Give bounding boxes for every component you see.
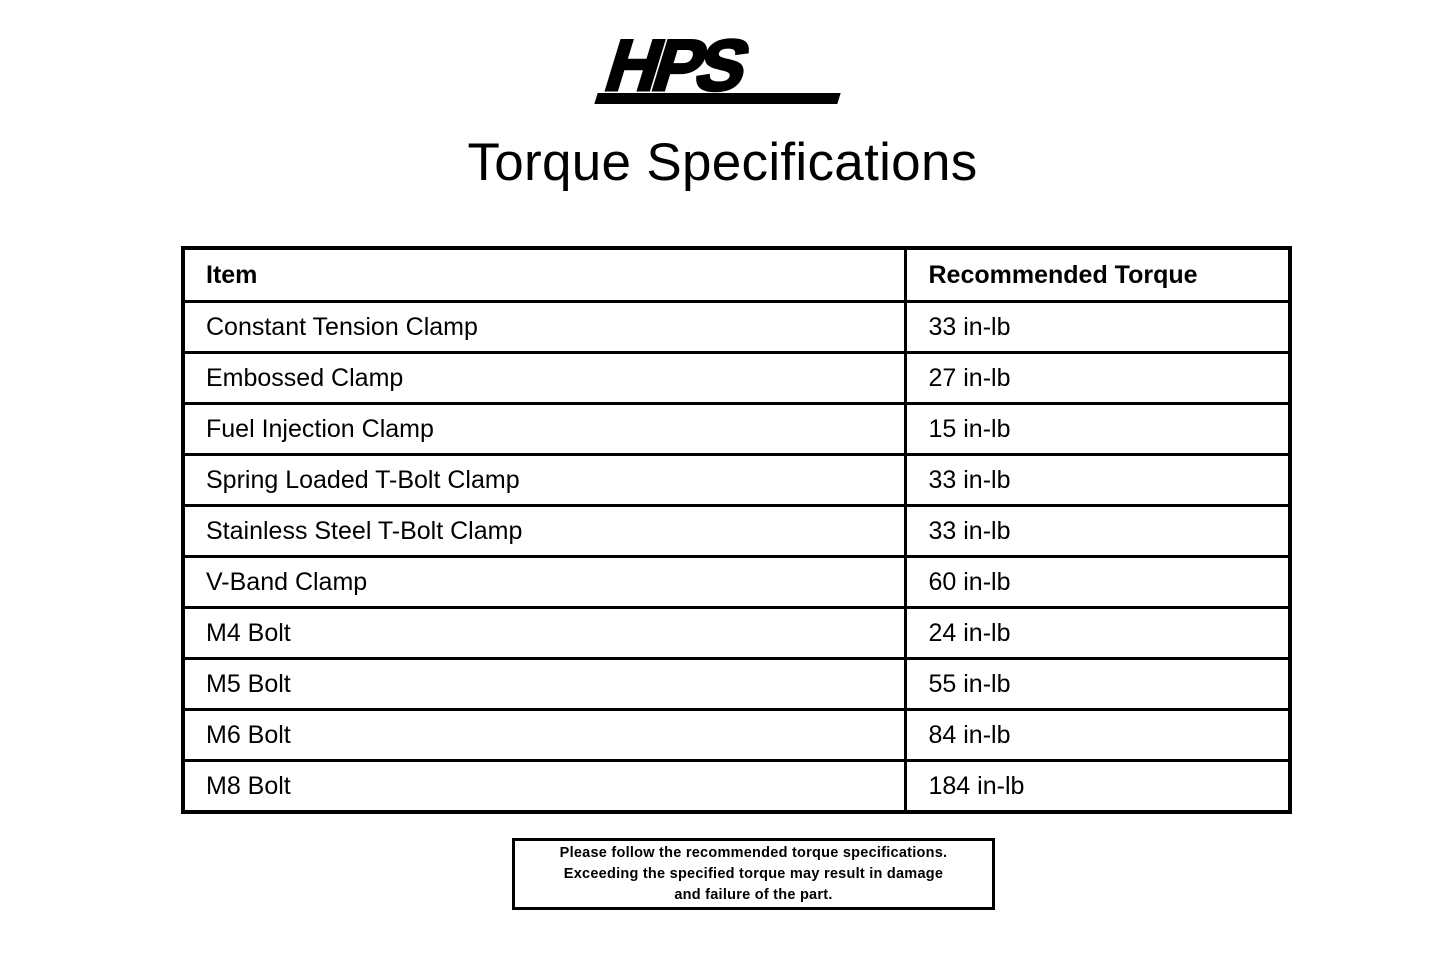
cell-item: M6 Bolt: [183, 710, 905, 761]
cell-item: M5 Bolt: [183, 659, 905, 710]
cell-torque: 33 in-lb: [905, 455, 1290, 506]
table-row: V-Band Clamp60 in-lb: [183, 557, 1290, 608]
table-row: Constant Tension Clamp33 in-lb: [183, 302, 1290, 353]
cell-torque: 33 in-lb: [905, 506, 1290, 557]
torque-table-head: Item Recommended Torque: [183, 248, 1290, 302]
note-line-2: Exceeding the specified torque may resul…: [564, 864, 943, 885]
cell-item: M4 Bolt: [183, 608, 905, 659]
cell-item: Constant Tension Clamp: [183, 302, 905, 353]
note-line-1: Please follow the recommended torque spe…: [560, 843, 948, 864]
table-row: Fuel Injection Clamp15 in-lb: [183, 404, 1290, 455]
hps-logo-underline-bar: [594, 93, 840, 104]
torque-table: Item Recommended Torque Constant Tension…: [181, 246, 1292, 814]
cell-torque: 24 in-lb: [905, 608, 1290, 659]
column-header-torque: Recommended Torque: [905, 248, 1290, 302]
table-row: M8 Bolt184 in-lb: [183, 761, 1290, 813]
warning-note-box: Please follow the recommended torque spe…: [512, 838, 995, 910]
column-header-item: Item: [183, 248, 905, 302]
cell-torque: 84 in-lb: [905, 710, 1290, 761]
cell-torque: 27 in-lb: [905, 353, 1290, 404]
cell-torque: 15 in-lb: [905, 404, 1290, 455]
cell-torque: 60 in-lb: [905, 557, 1290, 608]
cell-item: Spring Loaded T-Bolt Clamp: [183, 455, 905, 506]
cell-item: V-Band Clamp: [183, 557, 905, 608]
cell-item: M8 Bolt: [183, 761, 905, 813]
cell-item: Embossed Clamp: [183, 353, 905, 404]
table-row: M5 Bolt55 in-lb: [183, 659, 1290, 710]
table-row: M6 Bolt84 in-lb: [183, 710, 1290, 761]
table-row: Stainless Steel T-Bolt Clamp33 in-lb: [183, 506, 1290, 557]
torque-table-body: Constant Tension Clamp33 in-lbEmbossed C…: [183, 302, 1290, 813]
cell-torque: 33 in-lb: [905, 302, 1290, 353]
table-row: M4 Bolt24 in-lb: [183, 608, 1290, 659]
cell-torque: 55 in-lb: [905, 659, 1290, 710]
hps-logo: HPS: [598, 34, 844, 110]
cell-item: Stainless Steel T-Bolt Clamp: [183, 506, 905, 557]
table-header-row: Item Recommended Torque: [183, 248, 1290, 302]
logo-header: HPS: [0, 34, 1445, 110]
note-line-3: and failure of the part.: [674, 885, 832, 906]
table-row: Embossed Clamp27 in-lb: [183, 353, 1290, 404]
table-row: Spring Loaded T-Bolt Clamp33 in-lb: [183, 455, 1290, 506]
torque-table-container: Item Recommended Torque Constant Tension…: [181, 246, 1288, 814]
cell-torque: 184 in-lb: [905, 761, 1290, 813]
torque-specifications-page: { "brand": { "logo_text": "HPS", "logo_n…: [0, 0, 1445, 963]
cell-item: Fuel Injection Clamp: [183, 404, 905, 455]
page-title: Torque Specifications: [0, 132, 1445, 194]
hps-logo-wordmark: HPS: [598, 30, 753, 102]
